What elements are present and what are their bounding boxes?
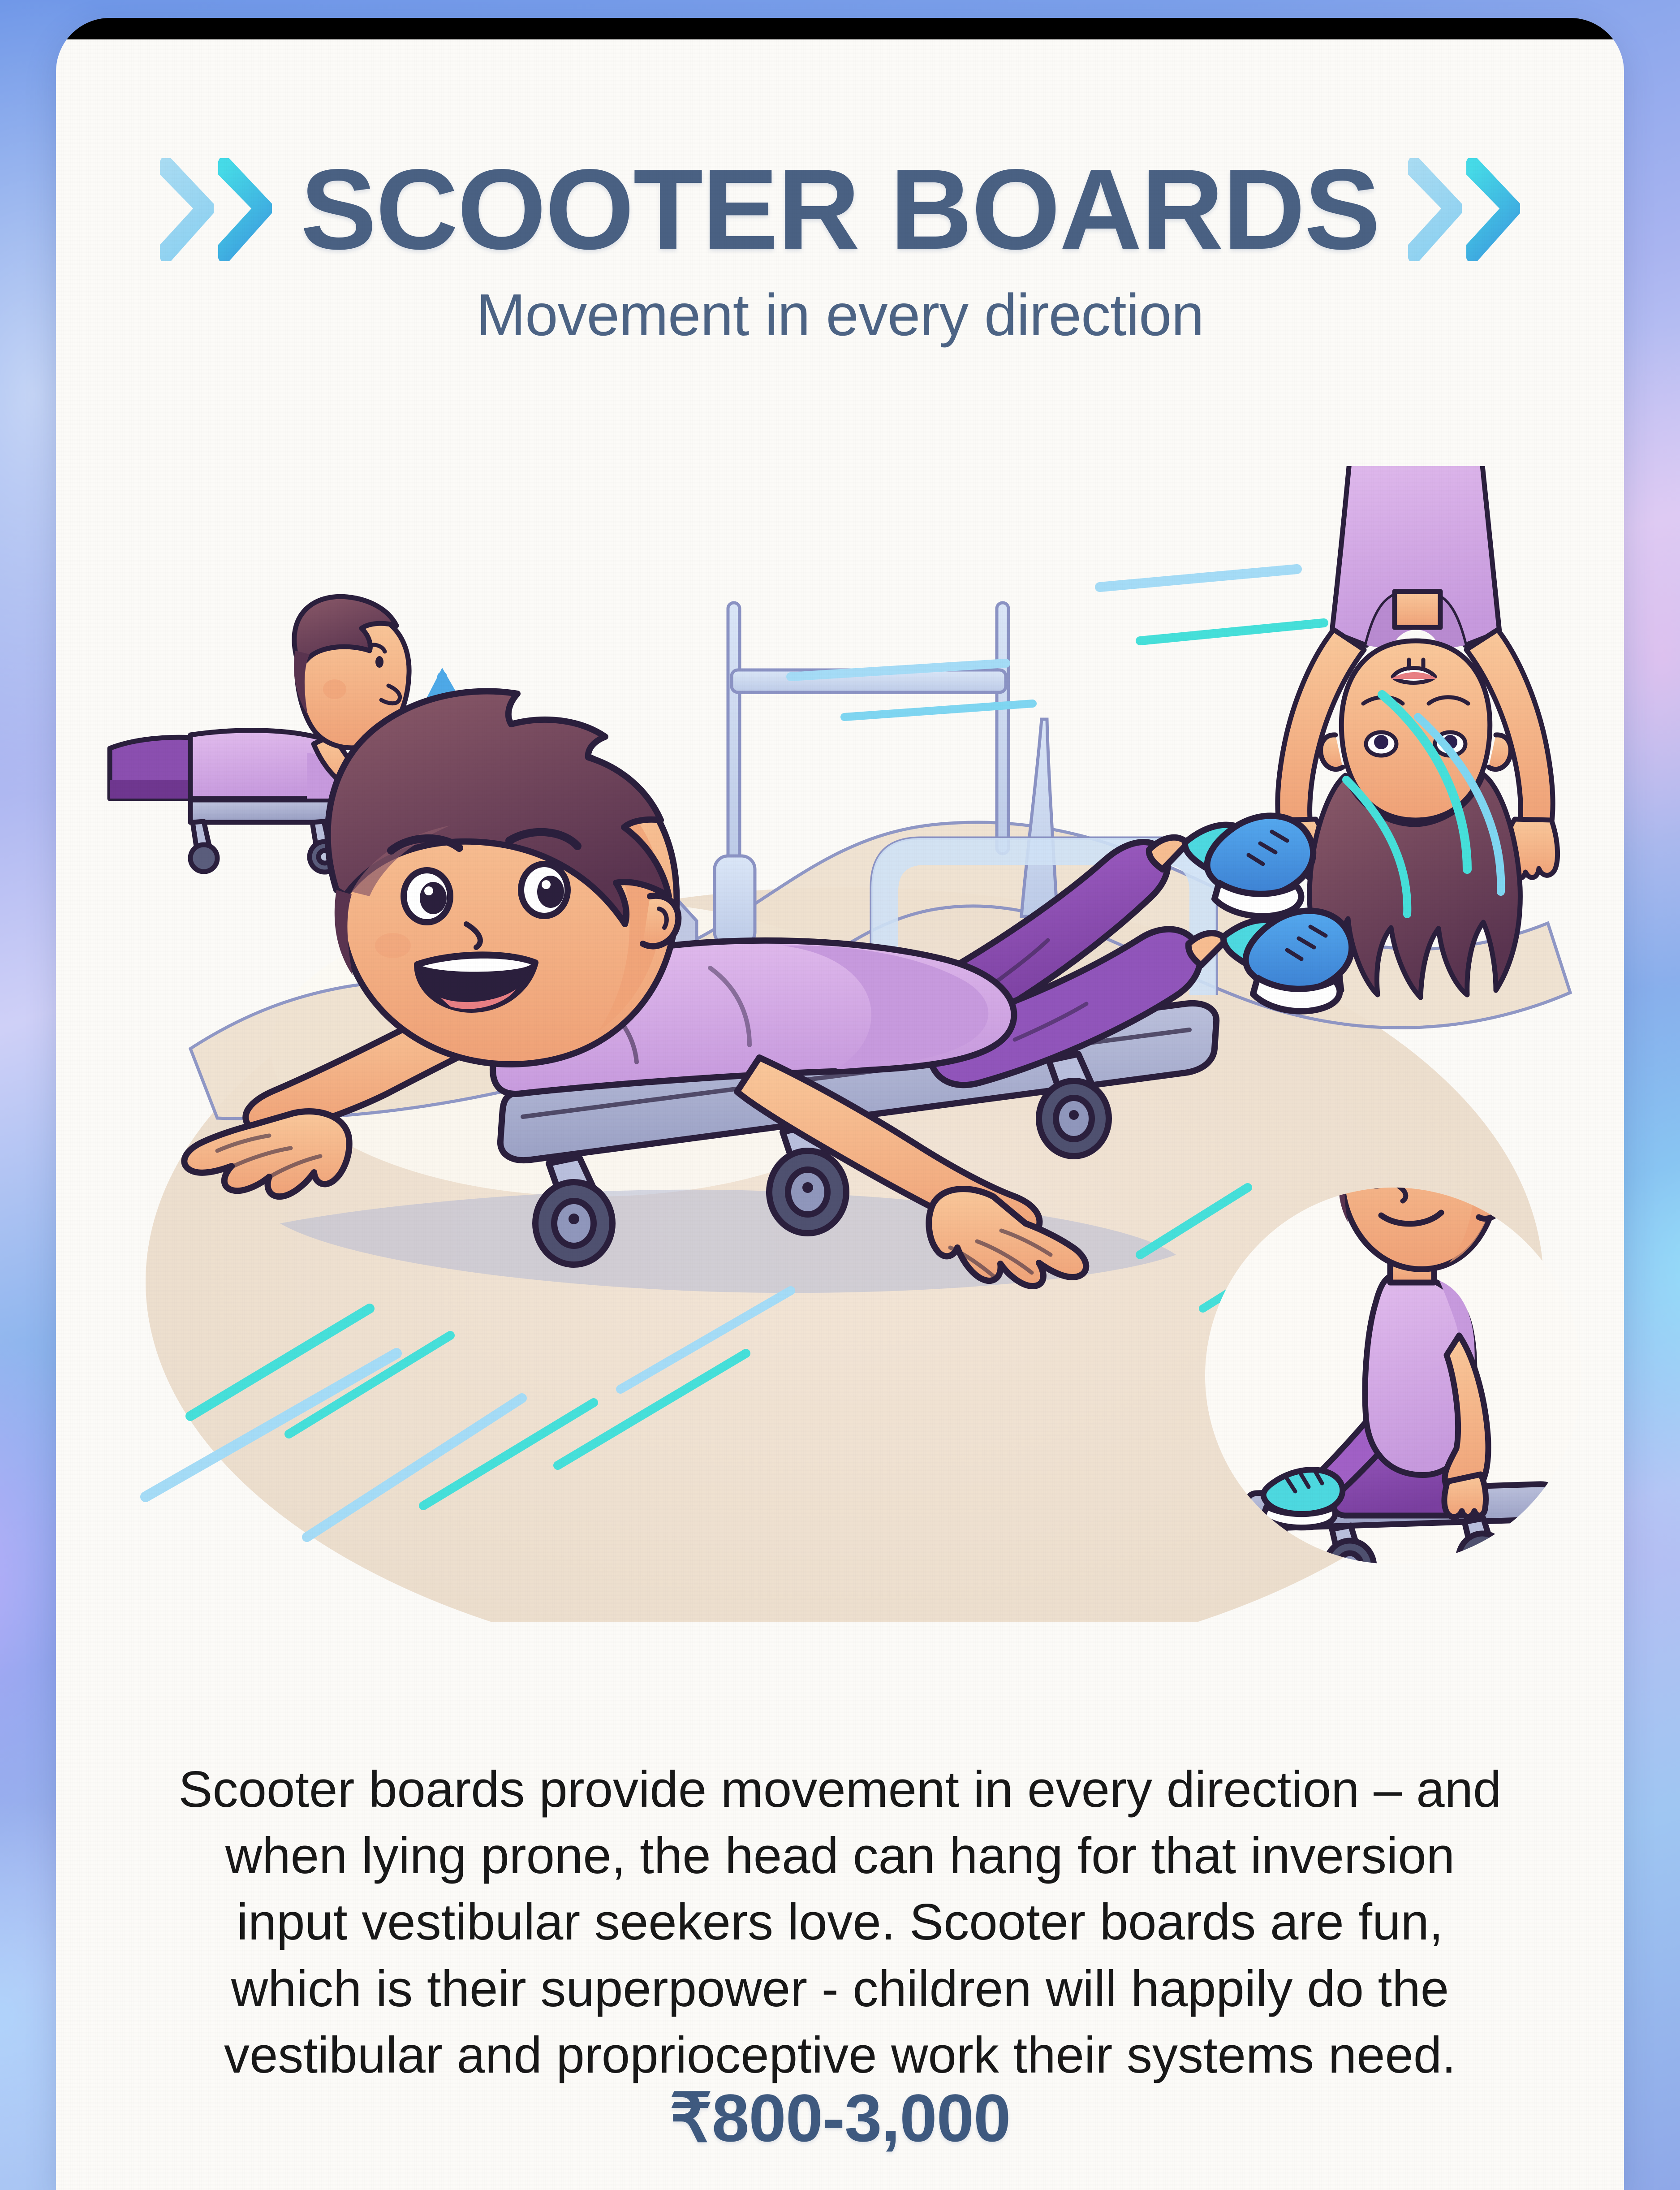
price-label: ₹800-3,000 (56, 2079, 1624, 2157)
poster-header: SCOOTER BOARDS (56, 152, 1624, 345)
traffic-cone-prop (1021, 719, 1057, 916)
page-title: SCOOTER BOARDS (301, 152, 1380, 267)
double-chevron-right-icon (160, 158, 272, 261)
description-paragraph: Scooter boards provide movement in every… (168, 1757, 1512, 2089)
poster-card: SCOOTER BOARDS (56, 18, 1624, 2190)
page-subtitle: Movement in every direction (56, 285, 1624, 345)
double-chevron-right-icon-right (1408, 158, 1520, 261)
card-top-bar (56, 18, 1624, 39)
title-row: SCOOTER BOARDS (56, 152, 1624, 267)
scooter-board-illustration (56, 466, 1624, 1622)
